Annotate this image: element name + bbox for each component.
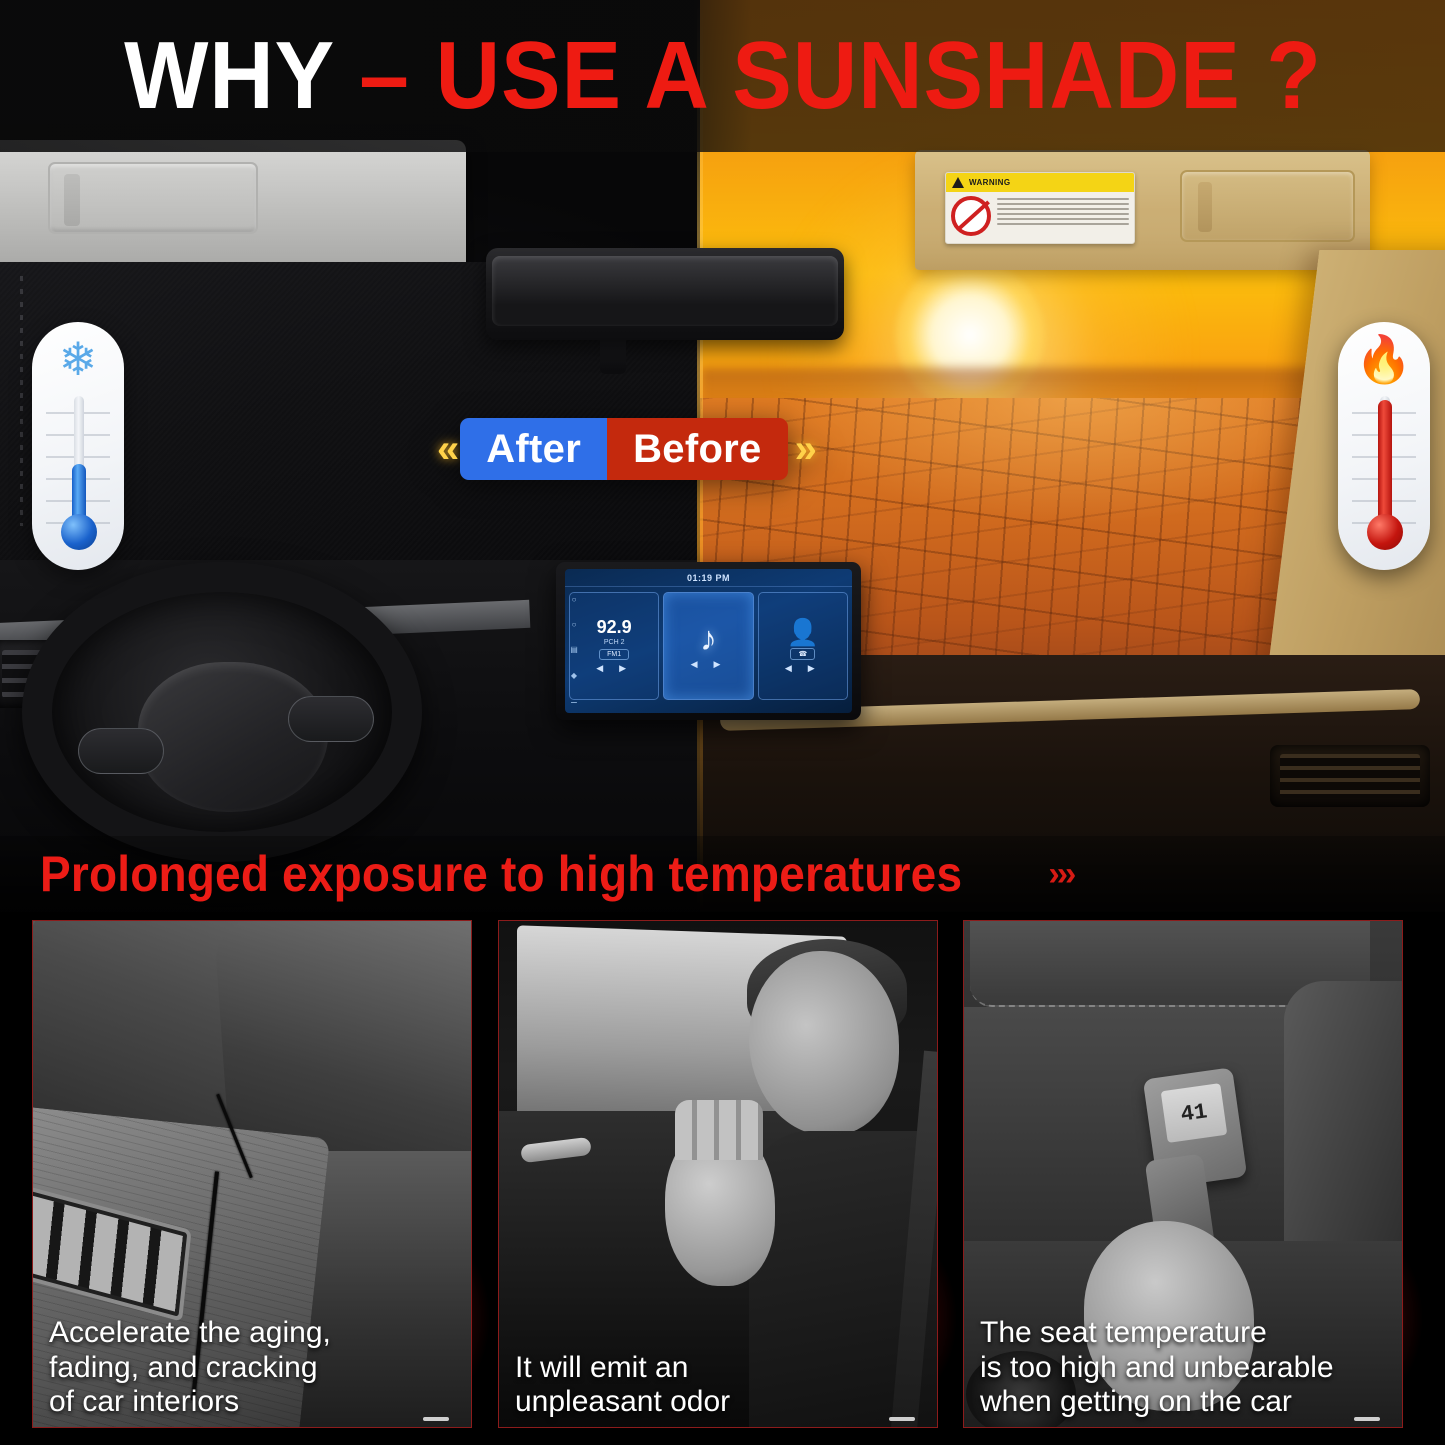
panel-3-caption: The seat temperature is too high and unb… bbox=[964, 1316, 1402, 1419]
visor-clip-right bbox=[1180, 170, 1355, 242]
consequence-panels: Accelerate the aging, fading, and cracki… bbox=[0, 912, 1445, 1445]
music-note-icon: ♪ bbox=[700, 622, 717, 656]
airbag-warning-label: WARNING bbox=[945, 172, 1135, 244]
side-button-volume[interactable]: ▤ bbox=[570, 645, 578, 654]
chevron-left-icon: « bbox=[430, 427, 460, 472]
sun-visor-right: WARNING bbox=[915, 150, 1370, 270]
rearview-mirror bbox=[486, 248, 844, 340]
after-badge[interactable]: After bbox=[460, 418, 607, 480]
flame-icon: 🔥 bbox=[1338, 336, 1430, 382]
phone-tile[interactable]: 👤 ☎ ◀▶ bbox=[758, 592, 848, 700]
no-rear-facing-seat-icon bbox=[951, 196, 991, 236]
person-hand bbox=[665, 1126, 775, 1286]
banner-chevrons-icon: ››› bbox=[1048, 855, 1073, 894]
media-tile[interactable]: ♪ ◀▶ bbox=[663, 592, 753, 700]
title-use-a-sunshade: – USE A SUNSHADE ? bbox=[359, 22, 1322, 129]
before-after-badges: « After Before » bbox=[430, 418, 818, 480]
radio-seek-controls[interactable]: ◀▶ bbox=[586, 663, 642, 674]
warning-triangle-icon bbox=[952, 177, 964, 188]
warning-label-header: WARNING bbox=[946, 173, 1134, 192]
caption-line: unpleasant odor bbox=[515, 1385, 921, 1419]
caption-line: Accelerate the aging, bbox=[49, 1316, 455, 1350]
radio-band[interactable]: FM1 bbox=[599, 649, 629, 660]
side-button-menu[interactable]: ◆ bbox=[571, 671, 577, 680]
warning-label-textlines bbox=[997, 196, 1129, 236]
page-title: WHY – USE A SUNSHADE ? bbox=[0, 0, 1445, 152]
side-button-home[interactable]: ○ bbox=[572, 620, 577, 629]
ir-thermometer-reading: 41 bbox=[1161, 1083, 1228, 1143]
infotainment-head-unit: 01:19 PM ○ ○ ▤ ◆ ⚊ 92.9 PCH 2 FM1 ◀▶ bbox=[556, 562, 861, 720]
chevron-right-icon: » bbox=[788, 427, 818, 472]
radio-preset: PCH 2 bbox=[604, 639, 625, 646]
hero-comparison: WARNING bbox=[0, 0, 1445, 912]
hot-thermometer: 🔥 bbox=[1338, 322, 1430, 570]
side-button-back[interactable]: ⚊ bbox=[570, 696, 577, 705]
thermometer-bulb-cold bbox=[61, 514, 97, 550]
steering-button-right bbox=[288, 696, 374, 742]
thermometer-bulb-hot bbox=[1367, 514, 1403, 550]
infotainment-screen: 01:19 PM ○ ○ ▤ ◆ ⚊ 92.9 PCH 2 FM1 ◀▶ bbox=[565, 569, 852, 713]
caption-line: when getting on the car bbox=[980, 1385, 1386, 1419]
sun-visor-left bbox=[0, 140, 466, 268]
radio-frequency: 92.9 bbox=[597, 618, 632, 636]
caption-line: fading, and cracking bbox=[49, 1351, 455, 1385]
media-transport-controls[interactable]: ◀▶ bbox=[681, 659, 737, 670]
sunshade-infographic: WARNING bbox=[0, 0, 1445, 1445]
seat-backrest bbox=[964, 1007, 1324, 1257]
panel-2-caption: It will emit an unpleasant odor bbox=[499, 1351, 937, 1419]
panel-1-caption: Accelerate the aging, fading, and cracki… bbox=[33, 1316, 471, 1419]
panel-aging-interiors: Accelerate the aging, fading, and cracki… bbox=[32, 920, 472, 1428]
panel-unpleasant-odor: It will emit an unpleasant odor bbox=[498, 920, 938, 1428]
visor-clip-left bbox=[48, 162, 258, 234]
dash-air-vent-icon bbox=[32, 1186, 192, 1322]
caption-line: It will emit an bbox=[515, 1351, 921, 1385]
infotainment-side-buttons[interactable]: ○ ○ ▤ ◆ ⚊ bbox=[565, 587, 583, 713]
phone-nav-controls[interactable]: ◀▶ bbox=[775, 663, 831, 674]
title-why: WHY bbox=[124, 22, 333, 129]
caption-line: is too high and unbearable bbox=[980, 1351, 1386, 1385]
side-button-power[interactable]: ○ bbox=[572, 595, 577, 604]
air-vent-right bbox=[1270, 745, 1430, 807]
steering-wheel bbox=[22, 562, 422, 862]
warning-label-body bbox=[946, 192, 1134, 240]
banner: Prolonged exposure to high temperatures … bbox=[0, 836, 1445, 912]
infotainment-clock: 01:19 PM bbox=[565, 569, 852, 587]
cold-thermometer: ❄ bbox=[32, 322, 124, 570]
panel-hot-seat: 41 The seat temperature is too high and … bbox=[963, 920, 1403, 1428]
caption-line: of car interiors bbox=[49, 1385, 455, 1419]
title-text: WHY – USE A SUNSHADE ? bbox=[124, 28, 1322, 124]
person-icon: 👤 bbox=[787, 619, 819, 645]
steering-button-left bbox=[78, 728, 164, 774]
infotainment-tiles: 92.9 PCH 2 FM1 ◀▶ ♪ ◀▶ 👤 ☎ ◀▶ bbox=[565, 587, 852, 705]
phone-status: ☎ bbox=[790, 648, 815, 660]
snowflake-icon: ❄ bbox=[32, 336, 124, 382]
banner-text: Prolonged exposure to high temperatures bbox=[40, 845, 962, 903]
before-badge[interactable]: Before bbox=[607, 418, 788, 480]
caption-line: The seat temperature bbox=[980, 1316, 1386, 1350]
warning-label-heading: WARNING bbox=[969, 178, 1010, 187]
